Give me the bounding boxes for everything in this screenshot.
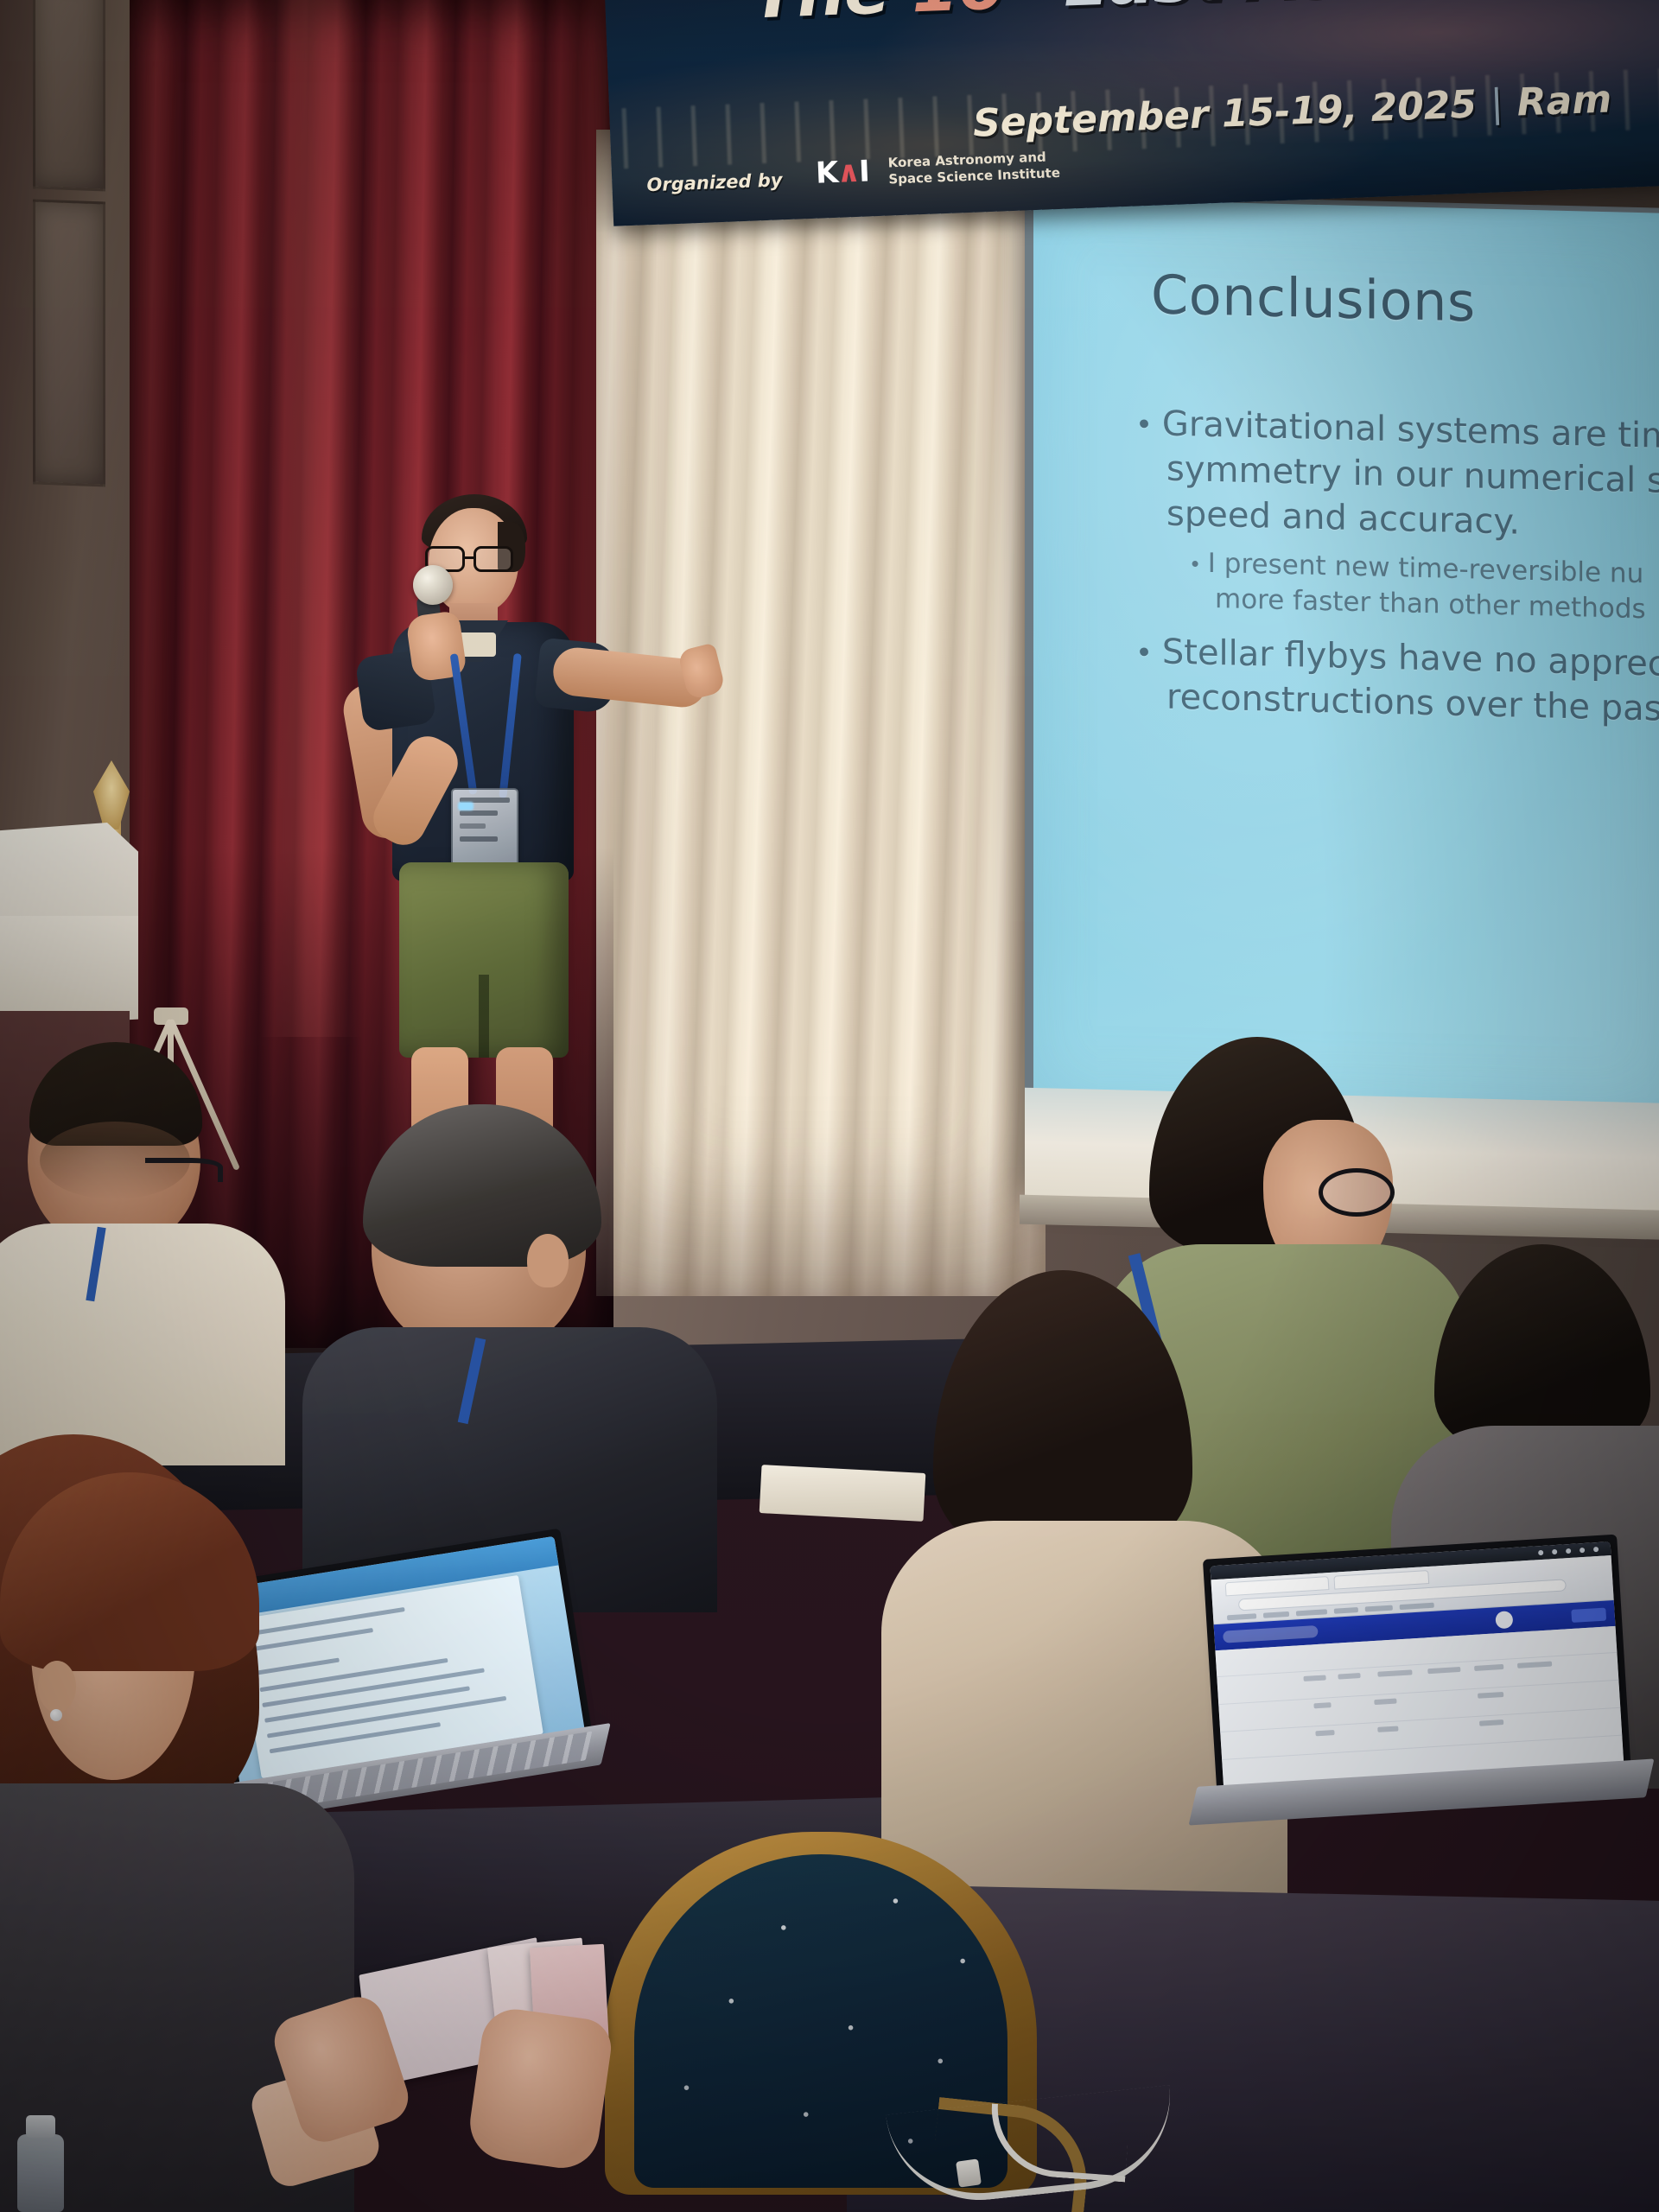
grid-cell[interactable] — [1427, 1667, 1460, 1674]
kasi-logo: K∧I — [815, 154, 868, 190]
slide-subbullet-1: I present new time-reversible nu more fa… — [1189, 545, 1659, 632]
speaker-shorts — [399, 862, 569, 1058]
water-bottle — [17, 2134, 64, 2212]
grid-row-line — [1218, 1680, 1618, 1705]
glasses-lens-right — [474, 546, 513, 572]
wall-panel-lower — [33, 200, 105, 487]
slide-subbullet-1-line-2: more faster than other methods — [1189, 581, 1659, 632]
earring-icon — [50, 1709, 62, 1721]
grid-row-line — [1217, 1652, 1617, 1677]
grid-cell[interactable] — [1374, 1699, 1396, 1706]
grid-cell[interactable] — [1517, 1661, 1552, 1668]
attendee-ear — [38, 1661, 76, 1713]
badge-text-line — [460, 836, 498, 842]
user-avatar[interactable] — [1495, 1611, 1513, 1629]
bookmark-item[interactable] — [1334, 1607, 1358, 1614]
grid-cell[interactable] — [1303, 1675, 1325, 1681]
grid-cell[interactable] — [1315, 1730, 1334, 1736]
wall-panel-upper — [33, 0, 105, 191]
slide-bullet-2-line-2: reconstructions over the past 5 — [1135, 674, 1659, 736]
banner-title-number: 16 — [910, 0, 1005, 28]
badge-glint — [458, 802, 474, 810]
app-title-chip — [1223, 1625, 1319, 1643]
bookmark-item[interactable] — [1296, 1609, 1327, 1616]
banner-venue: Ram — [1516, 77, 1612, 124]
bookmark-item[interactable] — [1400, 1603, 1434, 1610]
slide-bullet-1: Gravitational systems are time- symmetry… — [1135, 401, 1659, 553]
grid-row-line — [1222, 1735, 1622, 1760]
grid-cell[interactable] — [1313, 1702, 1331, 1708]
browser-tab[interactable] — [1333, 1570, 1429, 1590]
grid-row-line — [1220, 1707, 1620, 1732]
right-hand — [466, 2005, 615, 2172]
audience-member-mohawk — [9, 1054, 320, 1486]
menu-bar-icon[interactable] — [1538, 1550, 1543, 1555]
bookmark-item[interactable] — [1365, 1605, 1393, 1612]
grid-cell[interactable] — [1377, 1726, 1398, 1732]
slide-bullet-2: Stellar flybys have no appreciab reconst… — [1135, 629, 1659, 736]
attendee-glasses-icon — [1319, 1168, 1395, 1217]
laptop-browser-spreadsheet[interactable] — [1210, 1547, 1642, 1858]
bottle-cap — [26, 2115, 55, 2138]
badge-text-line — [460, 823, 486, 829]
grid-cell[interactable] — [1377, 1669, 1412, 1676]
attendee-glasses-icon — [145, 1158, 223, 1182]
cable-plug — [956, 2158, 982, 2187]
bookmark-item[interactable] — [1263, 1611, 1289, 1618]
notebook-on-table — [760, 1465, 926, 1522]
slide-title: Conclusions — [1151, 263, 1476, 334]
attendee-body-cream-shirt — [0, 1224, 285, 1465]
attendee-hair — [933, 1270, 1192, 1555]
banner-separator: | — [1476, 81, 1518, 127]
laptop-screen-browser[interactable] — [1210, 1541, 1624, 1792]
menu-bar-icon[interactable] — [1593, 1547, 1599, 1552]
projection-screen: Conclusions Gravitational systems are ti… — [1033, 198, 1659, 1116]
podium-top — [0, 823, 138, 926]
microphone-icon — [413, 565, 453, 605]
grid-cell[interactable] — [1338, 1673, 1360, 1680]
conference-photo-scene: Conclusions Gravitational systems are ti… — [0, 0, 1659, 2212]
attendee-ear — [527, 1234, 569, 1287]
menu-bar-icon[interactable] — [1552, 1549, 1557, 1554]
attendee-hair — [1434, 1244, 1650, 1452]
bookmark-item[interactable] — [1227, 1613, 1256, 1620]
share-button[interactable] — [1571, 1608, 1606, 1623]
menu-bar-icon[interactable] — [1566, 1548, 1571, 1554]
badge-text-line — [460, 810, 498, 816]
attendee-hair-grey — [363, 1104, 601, 1267]
browser-tab[interactable] — [1225, 1576, 1330, 1596]
slide-body: Gravitational systems are time- symmetry… — [1135, 401, 1659, 745]
grid-cell[interactable] — [1479, 1719, 1503, 1726]
grid-cell[interactable] — [1478, 1692, 1503, 1699]
menu-bar-icon[interactable] — [1580, 1548, 1585, 1553]
grid-cell[interactable] — [1474, 1664, 1503, 1671]
